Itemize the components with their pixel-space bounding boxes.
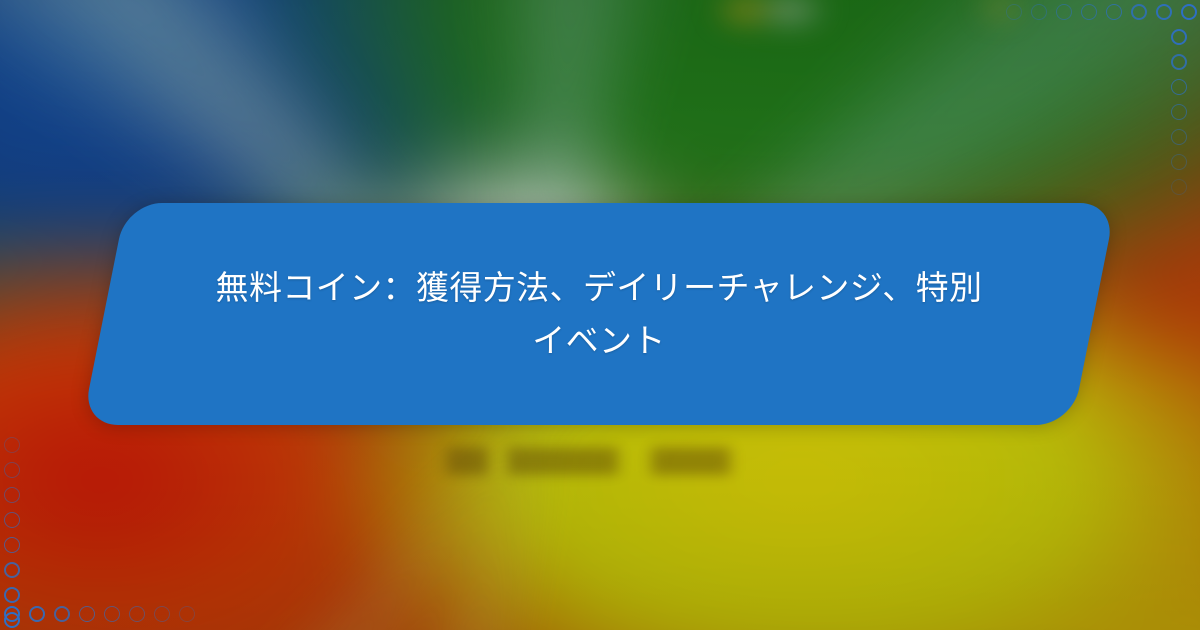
title-card: 無料コイン：獲得方法、デイリーチャレンジ、特別イベント: [82, 203, 1116, 425]
title-card-inner: 無料コイン：獲得方法、デイリーチャレンジ、特別イベント: [104, 203, 1094, 425]
page-title: 無料コイン：獲得方法、デイリーチャレンジ、特別イベント: [204, 261, 994, 368]
og-image-canvas: 無料コイン：獲得方法、デイリーチャレンジ、特別イベント: [0, 0, 1200, 630]
